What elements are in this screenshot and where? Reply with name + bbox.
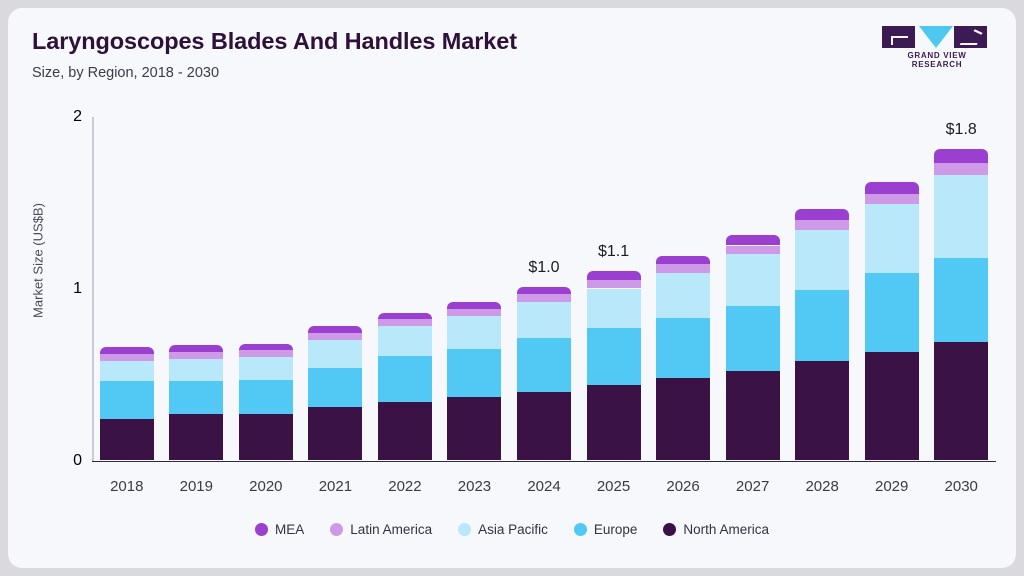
- bar-segment-latin-america[interactable]: [517, 294, 571, 303]
- bar-segment-asia-pacific[interactable]: [795, 230, 849, 290]
- bar-segment-asia-pacific[interactable]: [865, 204, 919, 273]
- bar-segment-asia-pacific[interactable]: [169, 359, 223, 381]
- bar-segment-north-america[interactable]: [587, 385, 641, 461]
- bar-segment-north-america[interactable]: [447, 397, 501, 461]
- bar-segment-europe[interactable]: [378, 356, 432, 402]
- bar-segment-mea[interactable]: [100, 347, 154, 354]
- bar-segment-mea[interactable]: [865, 182, 919, 194]
- bar-segment-asia-pacific[interactable]: [100, 361, 154, 382]
- bar-segment-asia-pacific[interactable]: [726, 254, 780, 306]
- legend-swatch-icon: [574, 523, 587, 536]
- legend-swatch-icon: [330, 523, 343, 536]
- legend-label: Asia Pacific: [478, 522, 548, 537]
- y-axis-tick-label: 1: [54, 280, 82, 298]
- legend-item-north-america[interactable]: North America: [663, 522, 769, 537]
- bar-value-label: $1.8: [916, 121, 1006, 139]
- bar-segment-mea[interactable]: [726, 235, 780, 245]
- bar-segment-mea[interactable]: [239, 344, 293, 351]
- bar-segment-latin-america[interactable]: [656, 264, 710, 273]
- bar-segment-asia-pacific[interactable]: [239, 357, 293, 379]
- bar-segment-asia-pacific[interactable]: [447, 316, 501, 349]
- bar-segment-europe[interactable]: [169, 381, 223, 414]
- bar-segment-europe[interactable]: [587, 328, 641, 385]
- bar-segment-mea[interactable]: [587, 271, 641, 280]
- bar-segment-latin-america[interactable]: [865, 194, 919, 204]
- bar-segment-europe[interactable]: [239, 380, 293, 414]
- bar-segment-europe[interactable]: [656, 318, 710, 378]
- bar-segment-asia-pacific[interactable]: [934, 175, 988, 258]
- bar-segment-asia-pacific[interactable]: [517, 302, 571, 338]
- bar-segment-latin-america[interactable]: [239, 350, 293, 357]
- bar-segment-europe[interactable]: [447, 349, 501, 397]
- x-axis-tick-2030: 2030: [916, 478, 1006, 495]
- bar-segment-north-america[interactable]: [865, 352, 919, 460]
- legend-swatch-icon: [458, 523, 471, 536]
- bar-segment-latin-america[interactable]: [169, 352, 223, 359]
- y-axis-tick-label: 0: [54, 452, 82, 470]
- bar-segment-north-america[interactable]: [308, 407, 362, 460]
- bar-segment-north-america[interactable]: [239, 414, 293, 460]
- bar-segment-europe[interactable]: [934, 258, 988, 342]
- bar-segment-latin-america[interactable]: [308, 333, 362, 340]
- legend-label: Europe: [594, 522, 638, 537]
- bar-segment-latin-america[interactable]: [726, 246, 780, 255]
- bar-segment-mea[interactable]: [308, 326, 362, 333]
- bar-segment-latin-america[interactable]: [378, 319, 432, 326]
- bar-segment-latin-america[interactable]: [447, 309, 501, 316]
- bar-segment-latin-america[interactable]: [587, 280, 641, 289]
- legend-label: Latin America: [350, 522, 432, 537]
- bar-segment-north-america[interactable]: [517, 392, 571, 461]
- bar-segment-asia-pacific[interactable]: [656, 273, 710, 318]
- bar-segment-europe[interactable]: [865, 273, 919, 352]
- bar-segment-north-america[interactable]: [934, 342, 988, 461]
- y-axis-label: Market Size (US$B): [31, 181, 46, 341]
- legend-item-europe[interactable]: Europe: [574, 522, 638, 537]
- bar-segment-europe[interactable]: [726, 306, 780, 371]
- bar-segment-north-america[interactable]: [100, 419, 154, 460]
- chart-card: Laryngoscopes Blades And Handles Market …: [8, 8, 1016, 568]
- bar-segment-asia-pacific[interactable]: [587, 289, 641, 329]
- chart-legend: MEALatin AmericaAsia PacificEuropeNorth …: [8, 522, 1016, 537]
- bar-value-label: $1.1: [569, 243, 659, 261]
- legend-item-asia-pacific[interactable]: Asia Pacific: [458, 522, 548, 537]
- bar-segment-mea[interactable]: [934, 149, 988, 163]
- bar-segment-north-america[interactable]: [726, 371, 780, 460]
- bar-segment-north-america[interactable]: [795, 361, 849, 461]
- y-axis-tick-label: 2: [54, 108, 82, 126]
- bar-segment-north-america[interactable]: [656, 378, 710, 461]
- bar-segment-mea[interactable]: [447, 302, 501, 309]
- bar-segment-asia-pacific[interactable]: [308, 340, 362, 368]
- bar-segment-mea[interactable]: [517, 287, 571, 294]
- bar-segment-latin-america[interactable]: [100, 354, 154, 361]
- bar-segment-latin-america[interactable]: [795, 220, 849, 230]
- bar-segment-europe[interactable]: [517, 338, 571, 391]
- bar-segment-north-america[interactable]: [169, 414, 223, 460]
- bar-segment-europe[interactable]: [100, 381, 154, 419]
- legend-swatch-icon: [663, 523, 676, 536]
- bar-value-label: $1.0: [499, 259, 589, 277]
- bar-segment-mea[interactable]: [169, 345, 223, 352]
- legend-swatch-icon: [255, 523, 268, 536]
- bar-segment-mea[interactable]: [656, 256, 710, 265]
- bar-segment-north-america[interactable]: [378, 402, 432, 460]
- bar-segment-latin-america[interactable]: [934, 163, 988, 175]
- bar-segment-mea[interactable]: [378, 313, 432, 320]
- legend-label: MEA: [275, 522, 304, 537]
- bar-segment-asia-pacific[interactable]: [378, 326, 432, 355]
- legend-item-mea[interactable]: MEA: [255, 522, 304, 537]
- legend-item-latin-america[interactable]: Latin America: [330, 522, 432, 537]
- bar-segment-mea[interactable]: [795, 209, 849, 219]
- bar-segment-europe[interactable]: [308, 368, 362, 408]
- bar-segment-europe[interactable]: [795, 290, 849, 361]
- legend-label: North America: [683, 522, 769, 537]
- bar-chart-plot: Market Size (US$B) 012 20182019202020212…: [8, 8, 1016, 568]
